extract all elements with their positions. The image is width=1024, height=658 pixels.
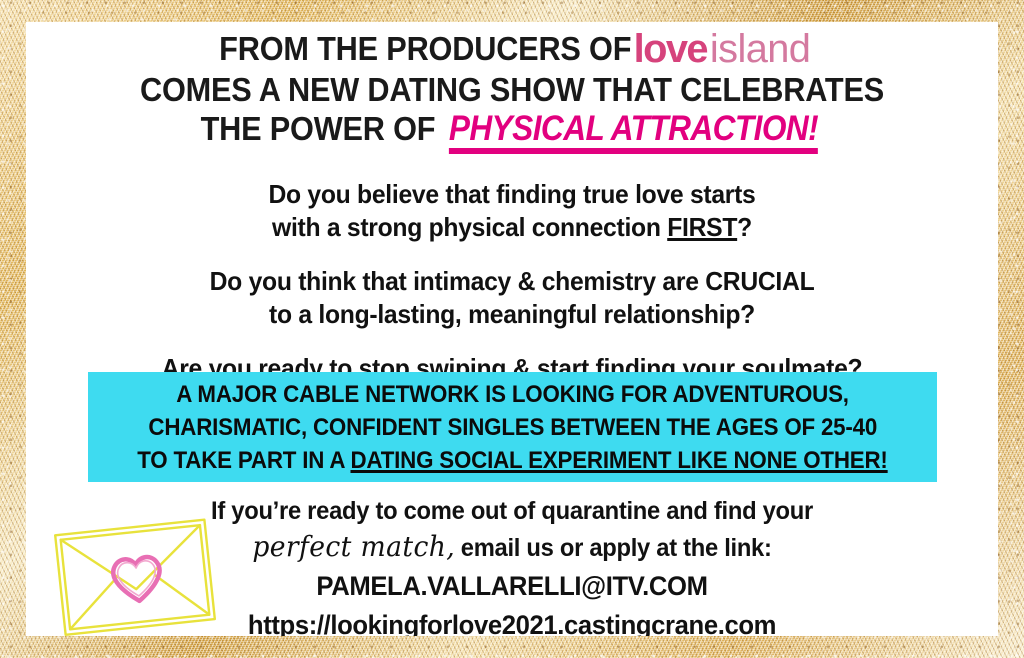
question-2: Do you think that intimacy & chemistry a… [26, 265, 998, 331]
flyer-canvas: FROM THE PRODUCERS OFloveisland COMES A … [26, 22, 998, 636]
physical-attraction-emphasis: PHYSICAL ATTRACTION! [448, 111, 817, 154]
envelope-fold-left [65, 579, 119, 629]
headline-block: FROM THE PRODUCERS OFloveisland COMES A … [26, 29, 998, 154]
headline-line-1-text: FROM THE PRODUCERS OF [219, 30, 631, 67]
heart-icon [112, 556, 163, 603]
envelope-heart-illustration [42, 507, 232, 636]
question-1-line-2: with a strong physical connection FIRST? [50, 211, 973, 244]
headline-line-3-prefix: THE POWER OF [201, 110, 436, 147]
question-1-line-2-text: with a strong physical connection [272, 212, 667, 242]
love-island-logo: loveisland [634, 30, 811, 70]
question-1: Do you believe that finding true love st… [26, 178, 998, 244]
question-1-line-1: Do you believe that finding true love st… [50, 178, 973, 211]
question-2-line-1: Do you think that intimacy & chemistry a… [50, 265, 973, 298]
callout-line-3-prefix: TO TAKE PART IN A [137, 447, 350, 474]
casting-call-flyer: FROM THE PRODUCERS OFloveisland COMES A … [0, 0, 1024, 658]
callout-line-3-underlined: DATING SOCIAL EXPERIMENT LIKE NONE OTHER… [351, 447, 888, 474]
envelope-icon [42, 507, 232, 636]
casting-callout-banner: A MAJOR CABLE NETWORK IS LOOKING FOR ADV… [88, 372, 937, 482]
logo-word-love: love [634, 27, 707, 71]
logo-word-island: island [710, 27, 810, 71]
callout-line-1: A MAJOR CABLE NETWORK IS LOOKING FOR ADV… [176, 378, 848, 411]
callout-line-2: CHARISMATIC, CONFIDENT SINGLES BETWEEN T… [148, 411, 877, 444]
footer-line-2-rest: email us or apply at the link: [461, 534, 772, 562]
headline-line-2: COMES A NEW DATING SHOW THAT CELEBRATES [60, 70, 964, 109]
question-2-line-2: to a long-lasting, meaningful relationsh… [50, 298, 973, 331]
question-1-underlined-word: FIRST [667, 212, 737, 242]
perfect-match-script: perfect match, [252, 530, 455, 563]
question-1-suffix: ? [737, 212, 752, 242]
envelope-fold-right [155, 570, 209, 620]
headline-line-1: FROM THE PRODUCERS OFloveisland [60, 29, 964, 70]
callout-line-3: TO TAKE PART IN A DATING SOCIAL EXPERIME… [137, 444, 887, 477]
headline-line-3: THE POWER OFPHYSICAL ATTRACTION! [60, 109, 964, 154]
